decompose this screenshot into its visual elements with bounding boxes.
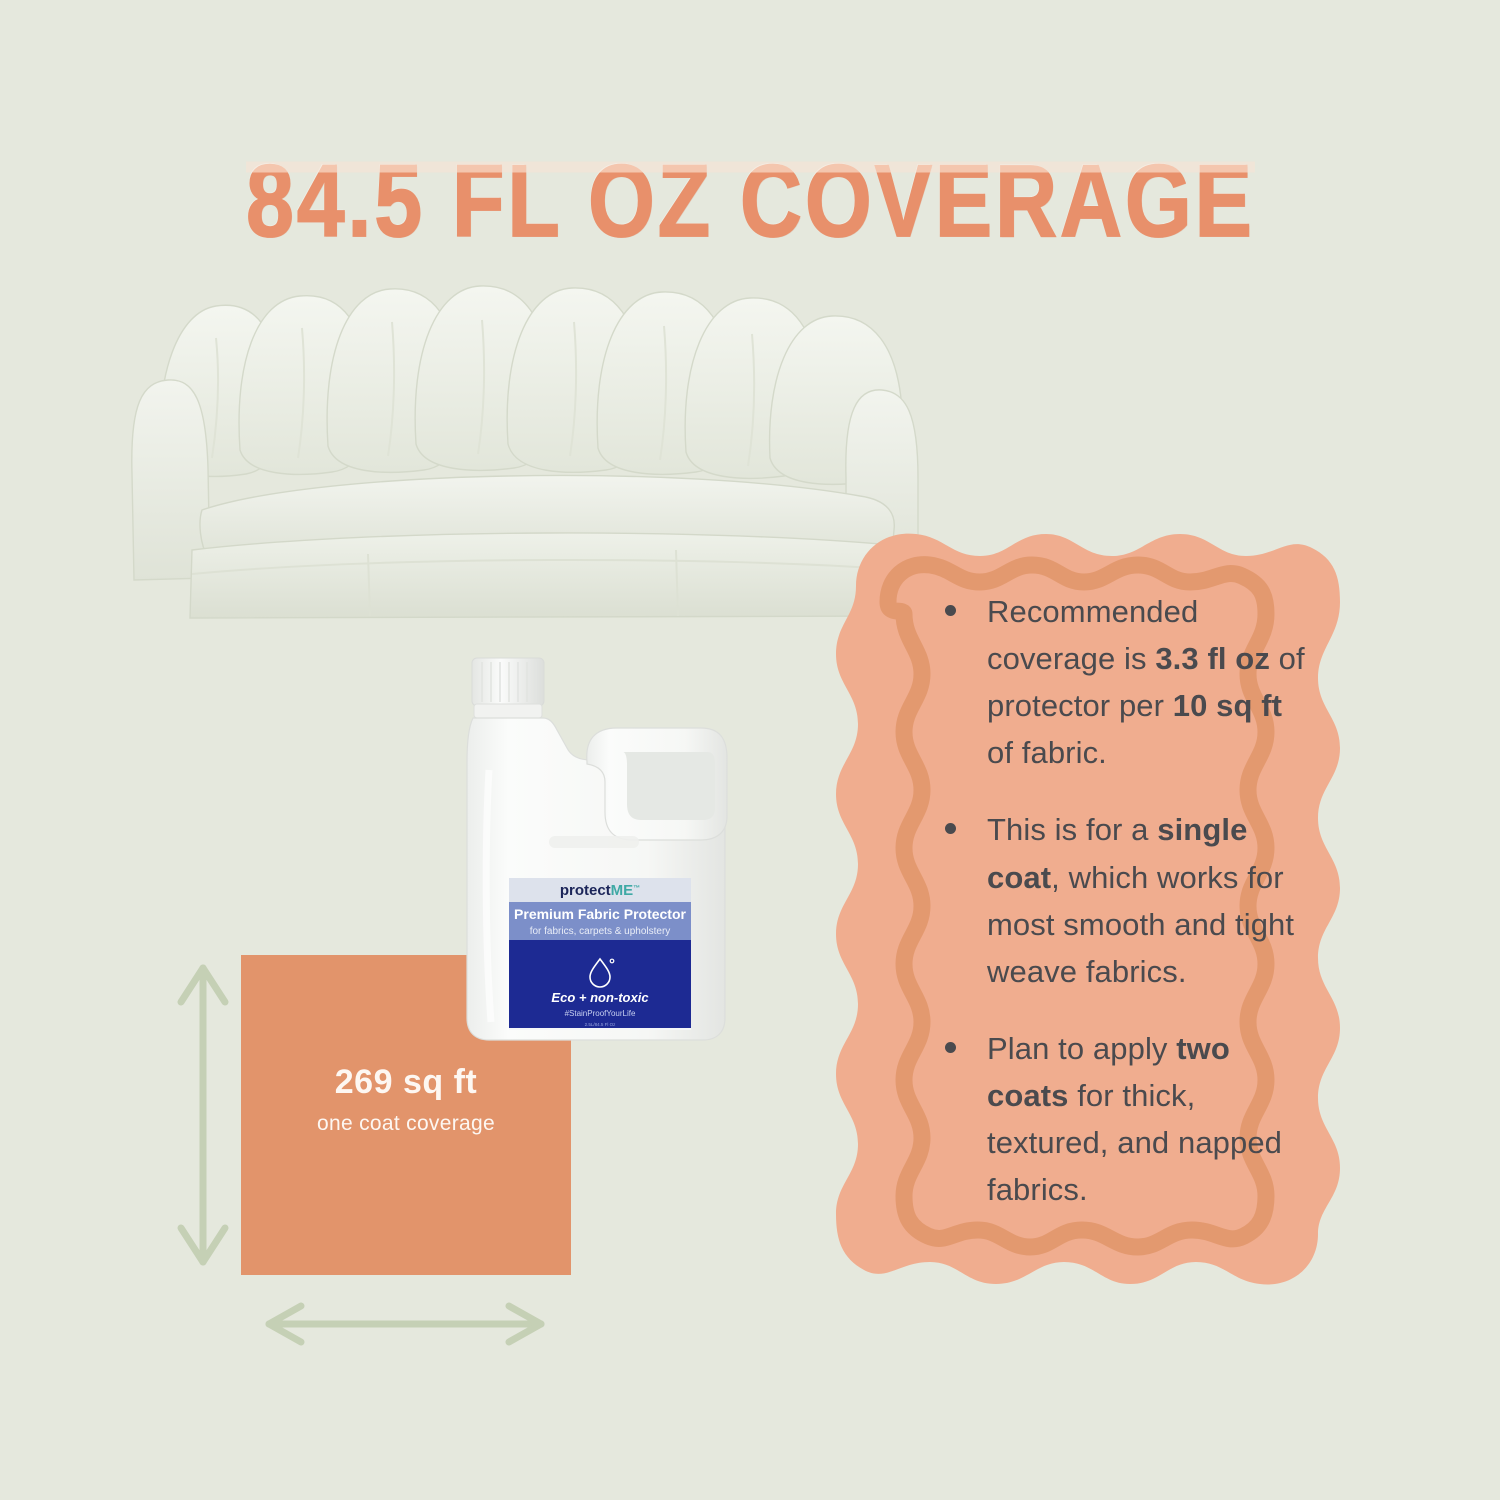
bottle-label: protectME™ Premium Fabric Protector for … xyxy=(509,878,691,1030)
width-dimension-arrow xyxy=(255,1300,555,1370)
info-panel: Recommended coverage is 3.3 fl oz of pro… xyxy=(820,490,1360,1330)
coverage-infographic: 84.5 FL OZ COVERAGE xyxy=(0,0,1500,1500)
hashtag: #StainProofYourLife xyxy=(565,1009,636,1018)
bullet-text: Plan to apply xyxy=(987,1031,1176,1066)
bottle-cap xyxy=(472,658,544,718)
title-block: 84.5 FL OZ COVERAGE xyxy=(0,142,1500,239)
coverage-bullet-list: Recommended coverage is 3.3 fl oz of pro… xyxy=(935,588,1315,1243)
bullet-text: This is for a xyxy=(987,812,1157,847)
sofa-skirt xyxy=(190,533,904,618)
height-dimension-arrow xyxy=(163,950,243,1280)
brand-tm: ™ xyxy=(633,885,640,892)
bottle-handle xyxy=(587,728,727,840)
brand-protect: protect xyxy=(560,882,611,899)
bullet-text: of fabric. xyxy=(987,735,1107,770)
bullet-emphasis: 3.3 fl oz xyxy=(1155,641,1270,676)
svg-text:protectME™: protectME™ xyxy=(560,882,640,899)
page-title: 84.5 FL OZ COVERAGE xyxy=(246,142,1255,260)
coverage-area-caption: one coat coverage xyxy=(241,1112,571,1136)
bottle-volume: 2.5L/84.5 Fl Oz xyxy=(585,1022,617,1027)
product-subtitle: for fabrics, carpets & upholstery xyxy=(530,926,671,937)
bullet-two-coats: Plan to apply two coats for thick, textu… xyxy=(935,1025,1315,1213)
eco-claim: Eco + non-toxic xyxy=(551,990,649,1005)
sofa-image xyxy=(120,278,930,628)
coverage-square-text: 269 sq ft one coat coverage xyxy=(241,1063,571,1136)
product-name: Premium Fabric Protector xyxy=(514,906,686,922)
product-bottle-image: protectME™ Premium Fabric Protector for … xyxy=(445,640,745,1070)
sofa-back-pillows xyxy=(160,286,903,484)
bullet-emphasis: 10 sq ft xyxy=(1173,688,1282,723)
bullet-single-coat: This is for a single coat, which works f… xyxy=(935,806,1315,994)
brand-me: ME xyxy=(611,882,634,899)
bullet-recommended-coverage: Recommended coverage is 3.3 fl oz of pro… xyxy=(935,588,1315,776)
